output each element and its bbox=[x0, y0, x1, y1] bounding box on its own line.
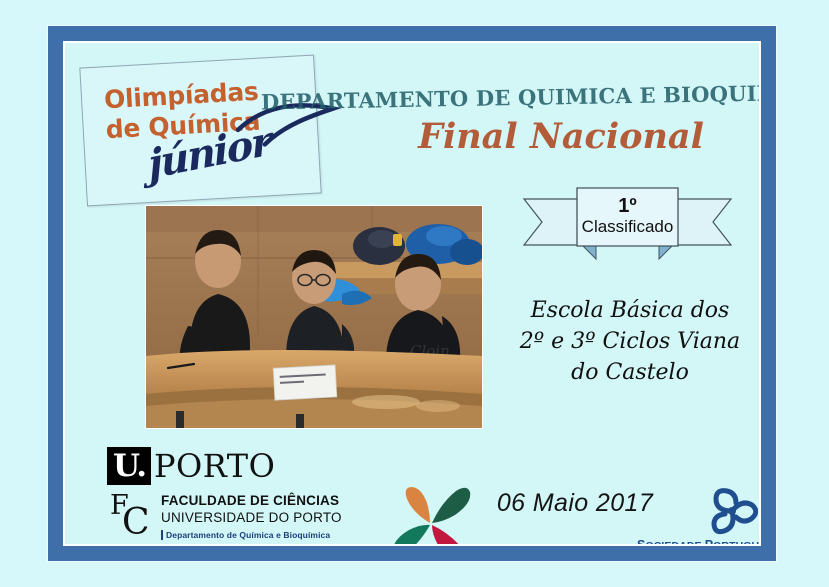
spq-mark-wrapper bbox=[706, 485, 758, 537]
faculty-name: FACULDADE DE CIÊNCIAS bbox=[161, 493, 342, 510]
faculty-logo-row: F C FACULDADE DE CIÊNCIAS UNIVERSIDADE D… bbox=[107, 490, 357, 542]
uporto-porto-text: PORTO bbox=[151, 447, 275, 485]
fc-letter-c: C bbox=[122, 505, 150, 541]
photograph-content: Cloin bbox=[146, 206, 482, 428]
four-petal-pinwheel-icon bbox=[383, 483, 479, 546]
faculty-text-block: FACULDADE DE CIÊNCIAS UNIVERSIDADE DO PO… bbox=[159, 490, 342, 540]
university-logo: U. PORTO F C FACULDADE DE CIÊNCIAS UNIVE… bbox=[107, 447, 357, 542]
pinwheel-logo bbox=[383, 483, 479, 546]
certificate-page: Olimpíadas de Química júnior DEPARTAMENT… bbox=[0, 0, 829, 587]
university-name: UNIVERSIDADE DO PORTO bbox=[161, 510, 342, 527]
event-title: Final Nacional bbox=[351, 116, 761, 157]
department-title: DEPARTAMENTO DE QUIMICA E BIOQUIMICA bbox=[261, 81, 761, 115]
spq-name: SOCIEDADE PORTUGUESA DE QUÍMICA bbox=[637, 538, 761, 546]
department-name: Departamento de Química e Bioquímica bbox=[161, 530, 342, 540]
olimpiadas-logo-card: Olimpíadas de Química júnior bbox=[79, 55, 321, 207]
team-photograph: Cloin bbox=[145, 205, 483, 429]
award-ribbon: 1º Classificado bbox=[520, 185, 735, 261]
spq-logo: SOCIEDADE PORTUGUESA DE QUÍMICA bbox=[637, 485, 761, 546]
ribbon-icon bbox=[520, 185, 735, 261]
triskelion-icon bbox=[706, 485, 758, 537]
uporto-wordmark: U. PORTO bbox=[107, 447, 357, 485]
school-line-3: do Castelo bbox=[485, 357, 761, 388]
school-line-2: 2º e 3º Ciclos Viana bbox=[485, 326, 761, 357]
school-line-1: Escola Básica dos bbox=[485, 295, 761, 326]
awarded-school-name: Escola Básica dos 2º e 3º Ciclos Viana d… bbox=[485, 295, 761, 389]
fc-monogram-icon: F C bbox=[107, 490, 159, 542]
uporto-u-mark: U. bbox=[107, 447, 151, 485]
certificate-inner-panel: Olimpíadas de Química júnior DEPARTAMENT… bbox=[63, 41, 761, 546]
certificate-frame-border: Olimpíadas de Química júnior DEPARTAMENT… bbox=[48, 26, 776, 561]
